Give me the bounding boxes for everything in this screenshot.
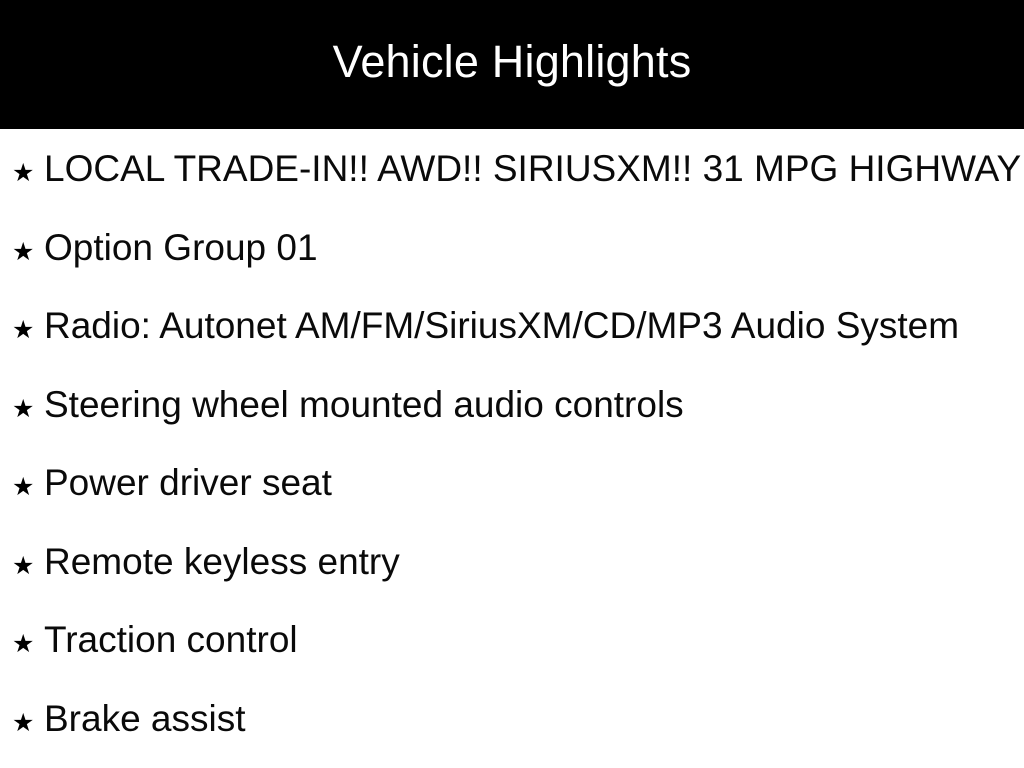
star-bullet-icon: ★ — [12, 710, 44, 735]
star-bullet-icon: ★ — [12, 396, 44, 421]
page-title: Vehicle Highlights — [333, 39, 692, 90]
list-item-label: LOCAL TRADE-IN!! AWD!! SIRIUSXM!! 31 MPG… — [44, 150, 1024, 187]
list-item-label: Brake assist — [44, 700, 1024, 737]
list-item-label: Remote keyless entry — [44, 543, 1024, 580]
list-item: ★ Steering wheel mounted audio controls — [0, 365, 1024, 444]
highlights-list: ★ LOCAL TRADE-IN!! AWD!! SIRIUSXM!! 31 M… — [0, 129, 1024, 757]
list-item: ★ Option Group 01 — [0, 208, 1024, 287]
list-item-label: Steering wheel mounted audio controls — [44, 386, 1024, 423]
list-item: ★ Power driver seat — [0, 443, 1024, 522]
list-item-label: Traction control — [44, 621, 1024, 658]
list-item-label: Radio: Autonet AM/FM/SiriusXM/CD/MP3 Aud… — [44, 307, 1024, 344]
star-bullet-icon: ★ — [12, 474, 44, 499]
list-item: ★ Radio: Autonet AM/FM/SiriusXM/CD/MP3 A… — [0, 286, 1024, 365]
star-bullet-icon: ★ — [12, 631, 44, 656]
list-item: ★ Brake assist — [0, 679, 1024, 758]
star-bullet-icon: ★ — [12, 239, 44, 264]
vehicle-highlights-slide: Vehicle Highlights ★ LOCAL TRADE-IN!! AW… — [0, 0, 1024, 768]
star-bullet-icon: ★ — [12, 317, 44, 342]
list-item: ★ Traction control — [0, 600, 1024, 679]
list-item: ★ LOCAL TRADE-IN!! AWD!! SIRIUSXM!! 31 M… — [0, 129, 1024, 208]
title-banner: Vehicle Highlights — [0, 0, 1024, 129]
list-item: ★ Remote keyless entry — [0, 522, 1024, 601]
star-bullet-icon: ★ — [12, 553, 44, 578]
list-item-label: Power driver seat — [44, 464, 1024, 501]
list-item-label: Option Group 01 — [44, 229, 1024, 266]
star-bullet-icon: ★ — [12, 160, 44, 185]
